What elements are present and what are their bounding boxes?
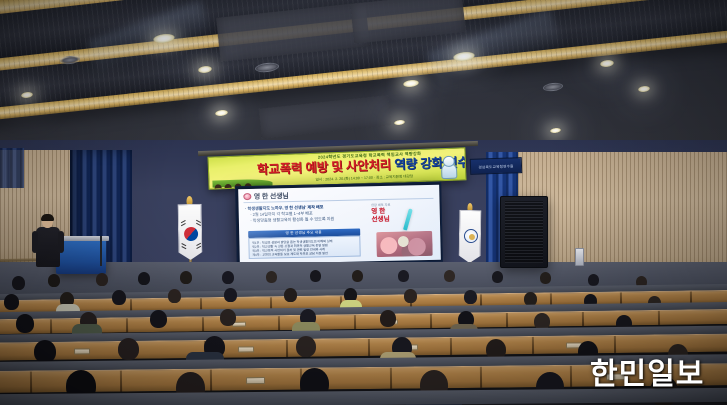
attendee-head	[34, 340, 56, 363]
slide-side-headline-line2: 선생님	[371, 215, 389, 223]
attendee-head	[224, 288, 237, 302]
trigram-bar	[196, 246, 201, 250]
teal-pen-icon	[403, 208, 413, 230]
slide-title: 영 한 선생님	[254, 191, 289, 202]
attendee-head	[310, 270, 321, 282]
attendee-head	[404, 289, 417, 303]
ceiling-downlight	[600, 59, 615, 68]
attendee-head	[150, 310, 167, 328]
slide-side-panel: 현장 배포 자료 영 한 선생님	[369, 200, 436, 257]
attendee-head	[4, 294, 19, 310]
presenter-arm	[58, 231, 64, 253]
seat-number-plate	[74, 348, 90, 354]
attendee-head	[266, 271, 277, 283]
ceiling-downlight	[638, 85, 651, 92]
taeguk-symbol	[182, 224, 201, 243]
booklet-cover-photo	[376, 230, 433, 256]
stage-curtain	[0, 148, 24, 188]
banner-kids-illustration	[212, 159, 261, 188]
projection-screen: 영 한 선생님 · 학생생활지도 노하우, 영 한 선생님' 제작 배포 - 2…	[235, 182, 443, 267]
attendee-head	[168, 289, 181, 303]
attendee-head	[118, 338, 139, 360]
attendee-head	[284, 288, 297, 302]
attendee-head	[180, 271, 192, 284]
ceiling-downlight	[550, 127, 562, 133]
slide-side-label: 현장 배포 자료	[371, 201, 390, 206]
attendee-head	[222, 271, 234, 284]
attendee-head	[48, 274, 60, 287]
rosette-icon	[243, 193, 251, 200]
venue-name-sign-text: 경상북도교육청연수원	[471, 158, 522, 175]
ceiling-downlight	[403, 79, 420, 88]
flag-cloth	[458, 210, 481, 263]
ceiling-downlight-off	[543, 82, 564, 92]
ceiling	[0, 0, 727, 150]
ceiling-acoustic-panel	[259, 95, 391, 138]
attendee-head	[296, 336, 316, 357]
photo-scene: 2024학년도 경기도교육청 학교폭력 책임교사 역량강화 학교폭력 예방 및 …	[0, 0, 727, 405]
attendee-head	[96, 273, 108, 286]
press-watermark: 한민일보	[590, 358, 704, 392]
seat-number-plate	[246, 377, 265, 384]
korean-flag	[177, 198, 202, 260]
trigram-bar	[181, 223, 186, 227]
venue-name-sign: 경상북도교육청연수원	[470, 157, 523, 175]
attendee-head	[540, 272, 551, 284]
slide-detail-box: 제1부 : 학생의 성장과 발달을 돕는 학생생활지도의 이해와 실제 제2부 …	[248, 236, 360, 260]
presenter-arm	[32, 231, 38, 253]
presenter-hair	[41, 214, 54, 221]
banner-mascot-icon	[438, 154, 461, 179]
organization-emblem-icon	[464, 229, 478, 243]
ceiling-downlight	[394, 119, 406, 125]
ceiling-downlight	[215, 109, 229, 117]
attendee-head	[352, 270, 363, 282]
attendee-head	[138, 272, 150, 285]
slide-side-headline: 영 한 선생님	[371, 207, 390, 223]
attendee-head	[16, 314, 34, 333]
flag-cloth	[178, 204, 203, 260]
attendee-head	[220, 309, 236, 326]
attendee-head	[492, 271, 503, 283]
attendee-head	[380, 310, 396, 327]
presentation-slide: 영 한 선생님 · 학생생활지도 노하우, 영 한 선생님' 제작 배포 - 2…	[238, 184, 441, 264]
attendee-head	[112, 290, 126, 305]
attendee-head	[588, 274, 599, 286]
attendee-head	[398, 270, 409, 282]
slide-bullet-list: · 학생생활지도 노하우, 영 한 선생님' 제작 배포 - 2월 14일까지 …	[245, 203, 360, 224]
attendee-head	[444, 270, 455, 282]
seat-number-plate	[238, 346, 254, 352]
attendee-head	[464, 290, 477, 304]
organization-flag	[458, 205, 481, 263]
attendee-head	[12, 276, 25, 290]
